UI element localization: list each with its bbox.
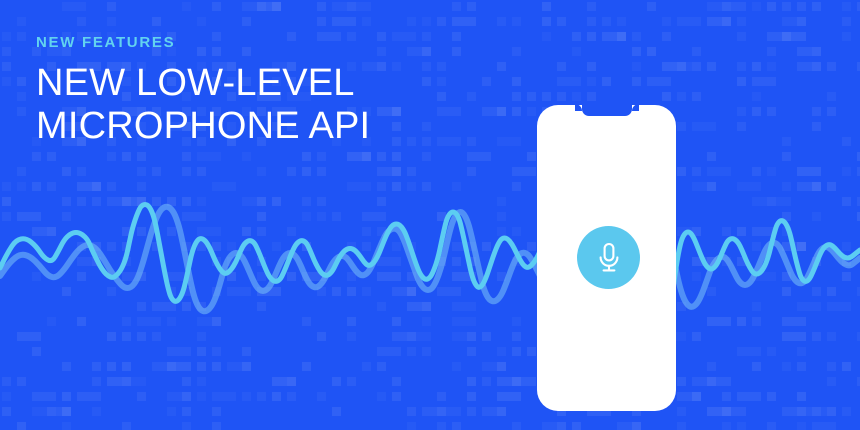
smartphone-mockup (537, 105, 676, 411)
eyebrow-label: NEW FEATURES (36, 33, 496, 53)
page-title: NEW LOW-LEVEL MICROPHONE API (36, 62, 496, 148)
promo-banner: NEW FEATURES NEW LOW-LEVEL MICROPHONE AP… (0, 0, 860, 430)
phone-notch (582, 104, 632, 116)
microphone-icon (595, 242, 623, 274)
microphone-record-button[interactable] (577, 226, 640, 289)
headline-block: NEW FEATURES NEW LOW-LEVEL MICROPHONE AP… (36, 33, 496, 148)
